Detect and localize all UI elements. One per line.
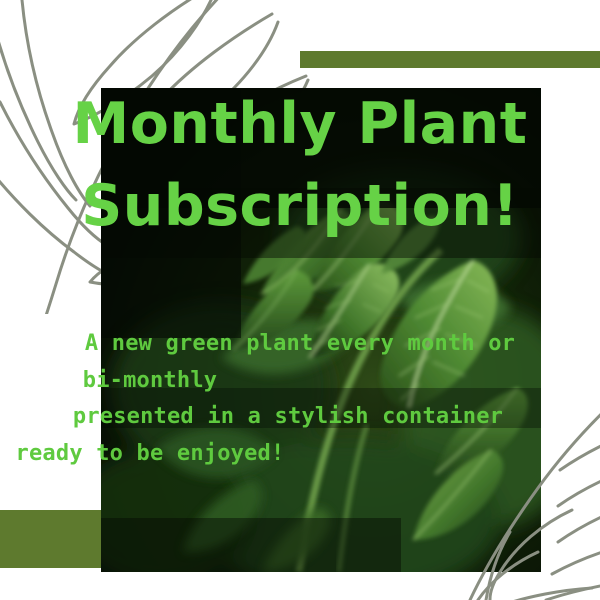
body-line-3: presented in a stylish container [0,406,588,428]
poster-canvas: Monthly Plant Subscription! A new green … [0,0,600,600]
body-line-2: bi-monthly [0,370,450,392]
headline-line-2: Subscription! [0,178,600,235]
body-line-4: ready to be enjoyed! [0,443,450,465]
headline-line-1: Monthly Plant [0,96,600,153]
poster-text-layer: Monthly Plant Subscription! A new green … [0,0,600,600]
body-line-1: A new green plant every month or [0,333,600,355]
